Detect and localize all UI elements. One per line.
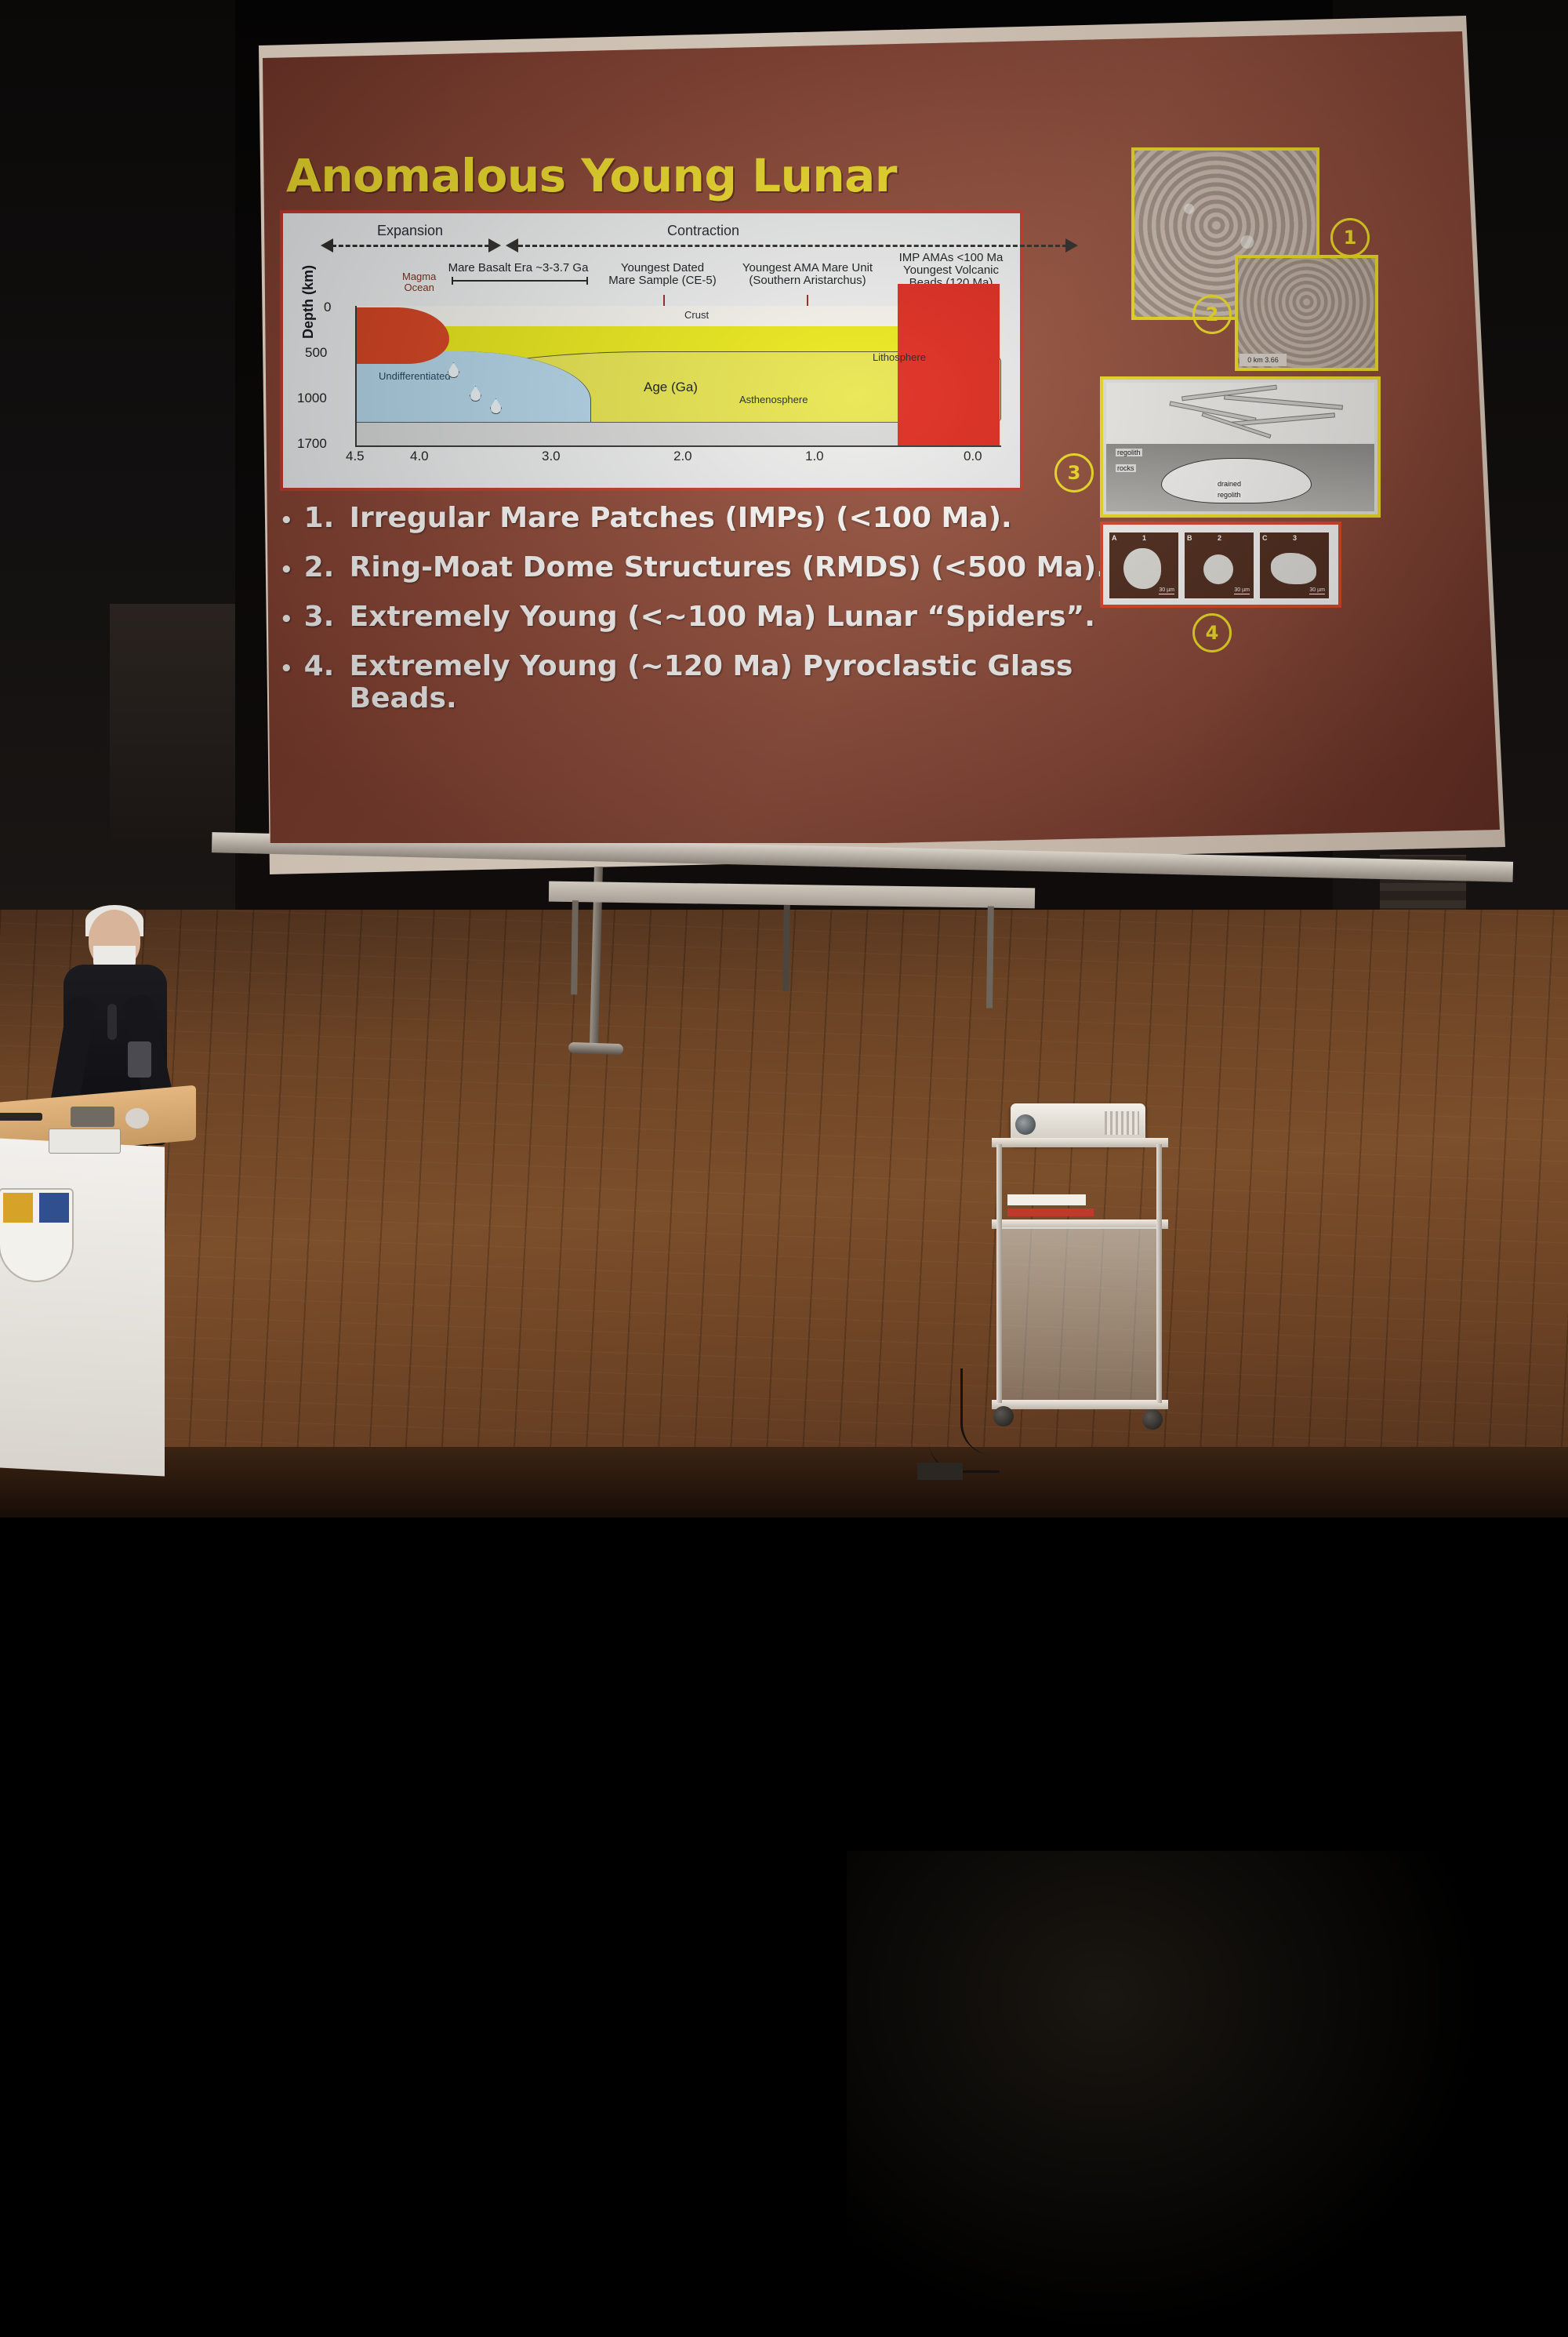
cart-warning-strip: [1007, 1208, 1094, 1216]
projected-slide: Anomalous Young Lunar Volcanism! Expansi…: [263, 31, 1501, 843]
ytick-0: 0: [324, 300, 376, 315]
xtick-2-0: 2.0: [673, 449, 692, 464]
table-leg: [571, 900, 579, 994]
glass-bead: [1203, 554, 1233, 584]
spider-surface-view: [1106, 383, 1374, 444]
power-brick: [917, 1463, 963, 1480]
lectern-cable: [0, 1113, 42, 1121]
drained-regolith-label-1: drained: [1216, 480, 1243, 488]
panel-3-lunar-spider-diagram: regolith rocks drained regolith: [1100, 376, 1381, 518]
x-axis: [355, 445, 1001, 447]
projector-cart: [992, 1133, 1168, 1447]
expansion-arrow-line: [332, 245, 496, 247]
magma-ocean-line2: Ocean: [402, 282, 436, 293]
imp-line1: IMP AMAs <100 Ma: [882, 252, 1020, 264]
crust-label: Crust: [684, 309, 709, 321]
projector-lens-icon: [1015, 1114, 1036, 1135]
bead-label-a: A: [1112, 534, 1117, 542]
bullet-dot-icon: •: [280, 609, 293, 630]
cart-top-shelf: [992, 1138, 1168, 1147]
bullet-text: Irregular Mare Patches (IMPs) (<100 Ma).: [350, 502, 1012, 534]
regolith-label: regolith: [1116, 449, 1142, 456]
rocks-label: rocks: [1116, 464, 1136, 472]
xtick-4-0: 4.0: [410, 449, 429, 464]
list-item: • 4. Extremely Young (~120 Ma) Pyroclast…: [280, 650, 1119, 714]
floor-reflection: [847, 1851, 1490, 2337]
mare-basalt-era-range-bar: [452, 277, 588, 285]
bullet-text: Extremely Young (<~100 Ma) Lunar “Spider…: [350, 601, 1095, 633]
crest-quarter-gold: [3, 1193, 33, 1223]
magma-ocean-label: Magma Ocean: [402, 271, 436, 293]
bead-box-b: B 2 30 µm: [1183, 531, 1255, 600]
stage-edge: [0, 1447, 1568, 1517]
youngest-dated-line2: Mare Sample (CE-5): [595, 274, 730, 287]
glass-bead: [1123, 548, 1161, 589]
spider-ray: [1232, 413, 1335, 426]
microphone[interactable]: [107, 1004, 117, 1040]
y-axis-label: Depth (km): [300, 265, 317, 339]
expansion-label: Expansion: [377, 223, 443, 239]
bead-scalebar-3: 30 µm: [1309, 587, 1325, 594]
callout-3: 3: [1054, 453, 1094, 492]
xtick-4-5: 4.5: [346, 449, 365, 464]
panel-2-scalebar: 0 km 3.66: [1240, 354, 1287, 366]
bead-box-c: C 3 30 µm: [1258, 531, 1330, 600]
bullet-dot-icon: •: [280, 560, 293, 580]
cart-post: [1156, 1144, 1162, 1403]
projector-vent: [1105, 1111, 1139, 1135]
contraction-arrow-line: [518, 245, 1067, 247]
bullet-dot-icon: •: [280, 511, 293, 531]
list-item: • 2. Ring-Moat Dome Structures (RMDS) (<…: [280, 551, 1119, 583]
university-crest: [0, 1188, 74, 1282]
bead-box-a: A 1 30 µm: [1108, 531, 1180, 600]
xtick-3-0: 3.0: [542, 449, 561, 464]
expansion-arrow-head-right: [488, 238, 501, 253]
spider-ray: [1224, 394, 1343, 409]
cross-section-chart: Expansion Contraction Mare Basalt Era ~3…: [280, 210, 1023, 491]
list-item: • 3. Extremely Young (<~100 Ma) Lunar “S…: [280, 601, 1119, 633]
crest-quarter-blue: [39, 1193, 69, 1223]
bullet-text: Ring-Moat Dome Structures (RMDS) (<500 M…: [350, 551, 1107, 583]
youngest-ama-line1: Youngest AMA Mare Unit: [730, 262, 885, 274]
stage-floor: [0, 910, 1568, 1515]
bead-scalebar-2: 30 µm: [1234, 587, 1250, 594]
lectern-phone[interactable]: [49, 1129, 121, 1154]
lithosphere-label: Lithosphere: [873, 351, 926, 363]
bullet-number: 4.: [304, 650, 339, 682]
table-crossbar: [782, 905, 790, 991]
callout-1: 1: [1330, 218, 1370, 257]
undifferentiated-label: Undifferentiated: [379, 370, 451, 382]
mare-basalt-era-text: Mare Basalt Era ~3-3.7 Ga: [420, 262, 616, 274]
drained-regolith-label-2: regolith: [1216, 491, 1243, 499]
contraction-arrow-head-left: [506, 238, 518, 253]
callout-2: 2: [1192, 295, 1232, 334]
x-axis-label: Age (Ga): [644, 380, 698, 395]
cart-caster: [1142, 1409, 1163, 1430]
xtick-0-0: 0.0: [964, 449, 982, 464]
bead-scalebar-1: 30 µm: [1159, 587, 1174, 594]
youngest-ama-line2: (Southern Aristarchus): [730, 274, 885, 287]
bead-label-c: C: [1262, 534, 1268, 542]
bullet-list: • 1. Irregular Mare Patches (IMPs) (<100…: [280, 502, 1119, 732]
lectern-control-panel[interactable]: [71, 1107, 114, 1127]
spider-subsurface-view: regolith rocks drained regolith: [1106, 444, 1374, 511]
cart-label: [1007, 1194, 1086, 1205]
glass-bead: [1271, 553, 1316, 584]
expansion-arrow-head-left: [321, 238, 333, 253]
bead-number-3: 3: [1293, 534, 1297, 542]
bullet-number: 2.: [304, 551, 339, 583]
youngest-dated-sample-annotation: Youngest Dated Mare Sample (CE-5): [595, 262, 730, 287]
ytick-500: 500: [305, 345, 376, 361]
cart-bottom-shelf: [992, 1400, 1168, 1409]
contraction-arrow-head-right: [1065, 238, 1078, 253]
cart-glass-enclosure: [1001, 1227, 1160, 1409]
panel-4-pyroclastic-glass-beads: A 1 30 µm B 2 30 µm C 3 30 µm: [1100, 522, 1341, 608]
bullet-dot-icon: •: [280, 659, 293, 679]
plot-area: Crust Lithosphere Asthenosphere Undiffer…: [355, 306, 1000, 445]
panel-2-ring-moat-dome-structures: 0 km 3.66: [1235, 255, 1378, 371]
screen-foot-left: [568, 1042, 623, 1055]
list-item: • 1. Irregular Mare Patches (IMPs) (<100…: [280, 502, 1119, 534]
ytick-1000: 1000: [297, 391, 376, 406]
lectern-puck[interactable]: [125, 1108, 149, 1129]
bead-number-2: 2: [1218, 534, 1221, 542]
bullet-number: 1.: [304, 502, 339, 534]
callout-4: 4: [1192, 613, 1232, 652]
asthenosphere-label: Asthenosphere: [739, 394, 808, 405]
youngest-dated-line1: Youngest Dated: [595, 262, 730, 274]
youngest-ama-annotation: Youngest AMA Mare Unit (Southern Aristar…: [730, 262, 885, 287]
cart-post: [996, 1144, 1002, 1403]
xtick-1-0: 1.0: [805, 449, 824, 464]
left-wall: [0, 0, 259, 925]
contraction-label: Contraction: [667, 223, 739, 239]
mare-basalt-era-annotation: Mare Basalt Era ~3-3.7 Ga: [420, 262, 616, 285]
young-volcanism-highlight-block: [898, 284, 1000, 445]
bead-number-1: 1: [1142, 534, 1146, 542]
bead-label-b: B: [1187, 534, 1192, 542]
bullet-number: 3.: [304, 601, 339, 633]
imp-line2: Youngest Volcanic: [882, 264, 1020, 277]
magma-ocean-line1: Magma: [402, 271, 436, 282]
y-axis: [355, 306, 357, 447]
handheld-device[interactable]: [128, 1041, 151, 1078]
bullet-text: Extremely Young (~120 Ma) Pyroclastic Gl…: [350, 650, 1119, 714]
lectern: [0, 1094, 196, 1486]
